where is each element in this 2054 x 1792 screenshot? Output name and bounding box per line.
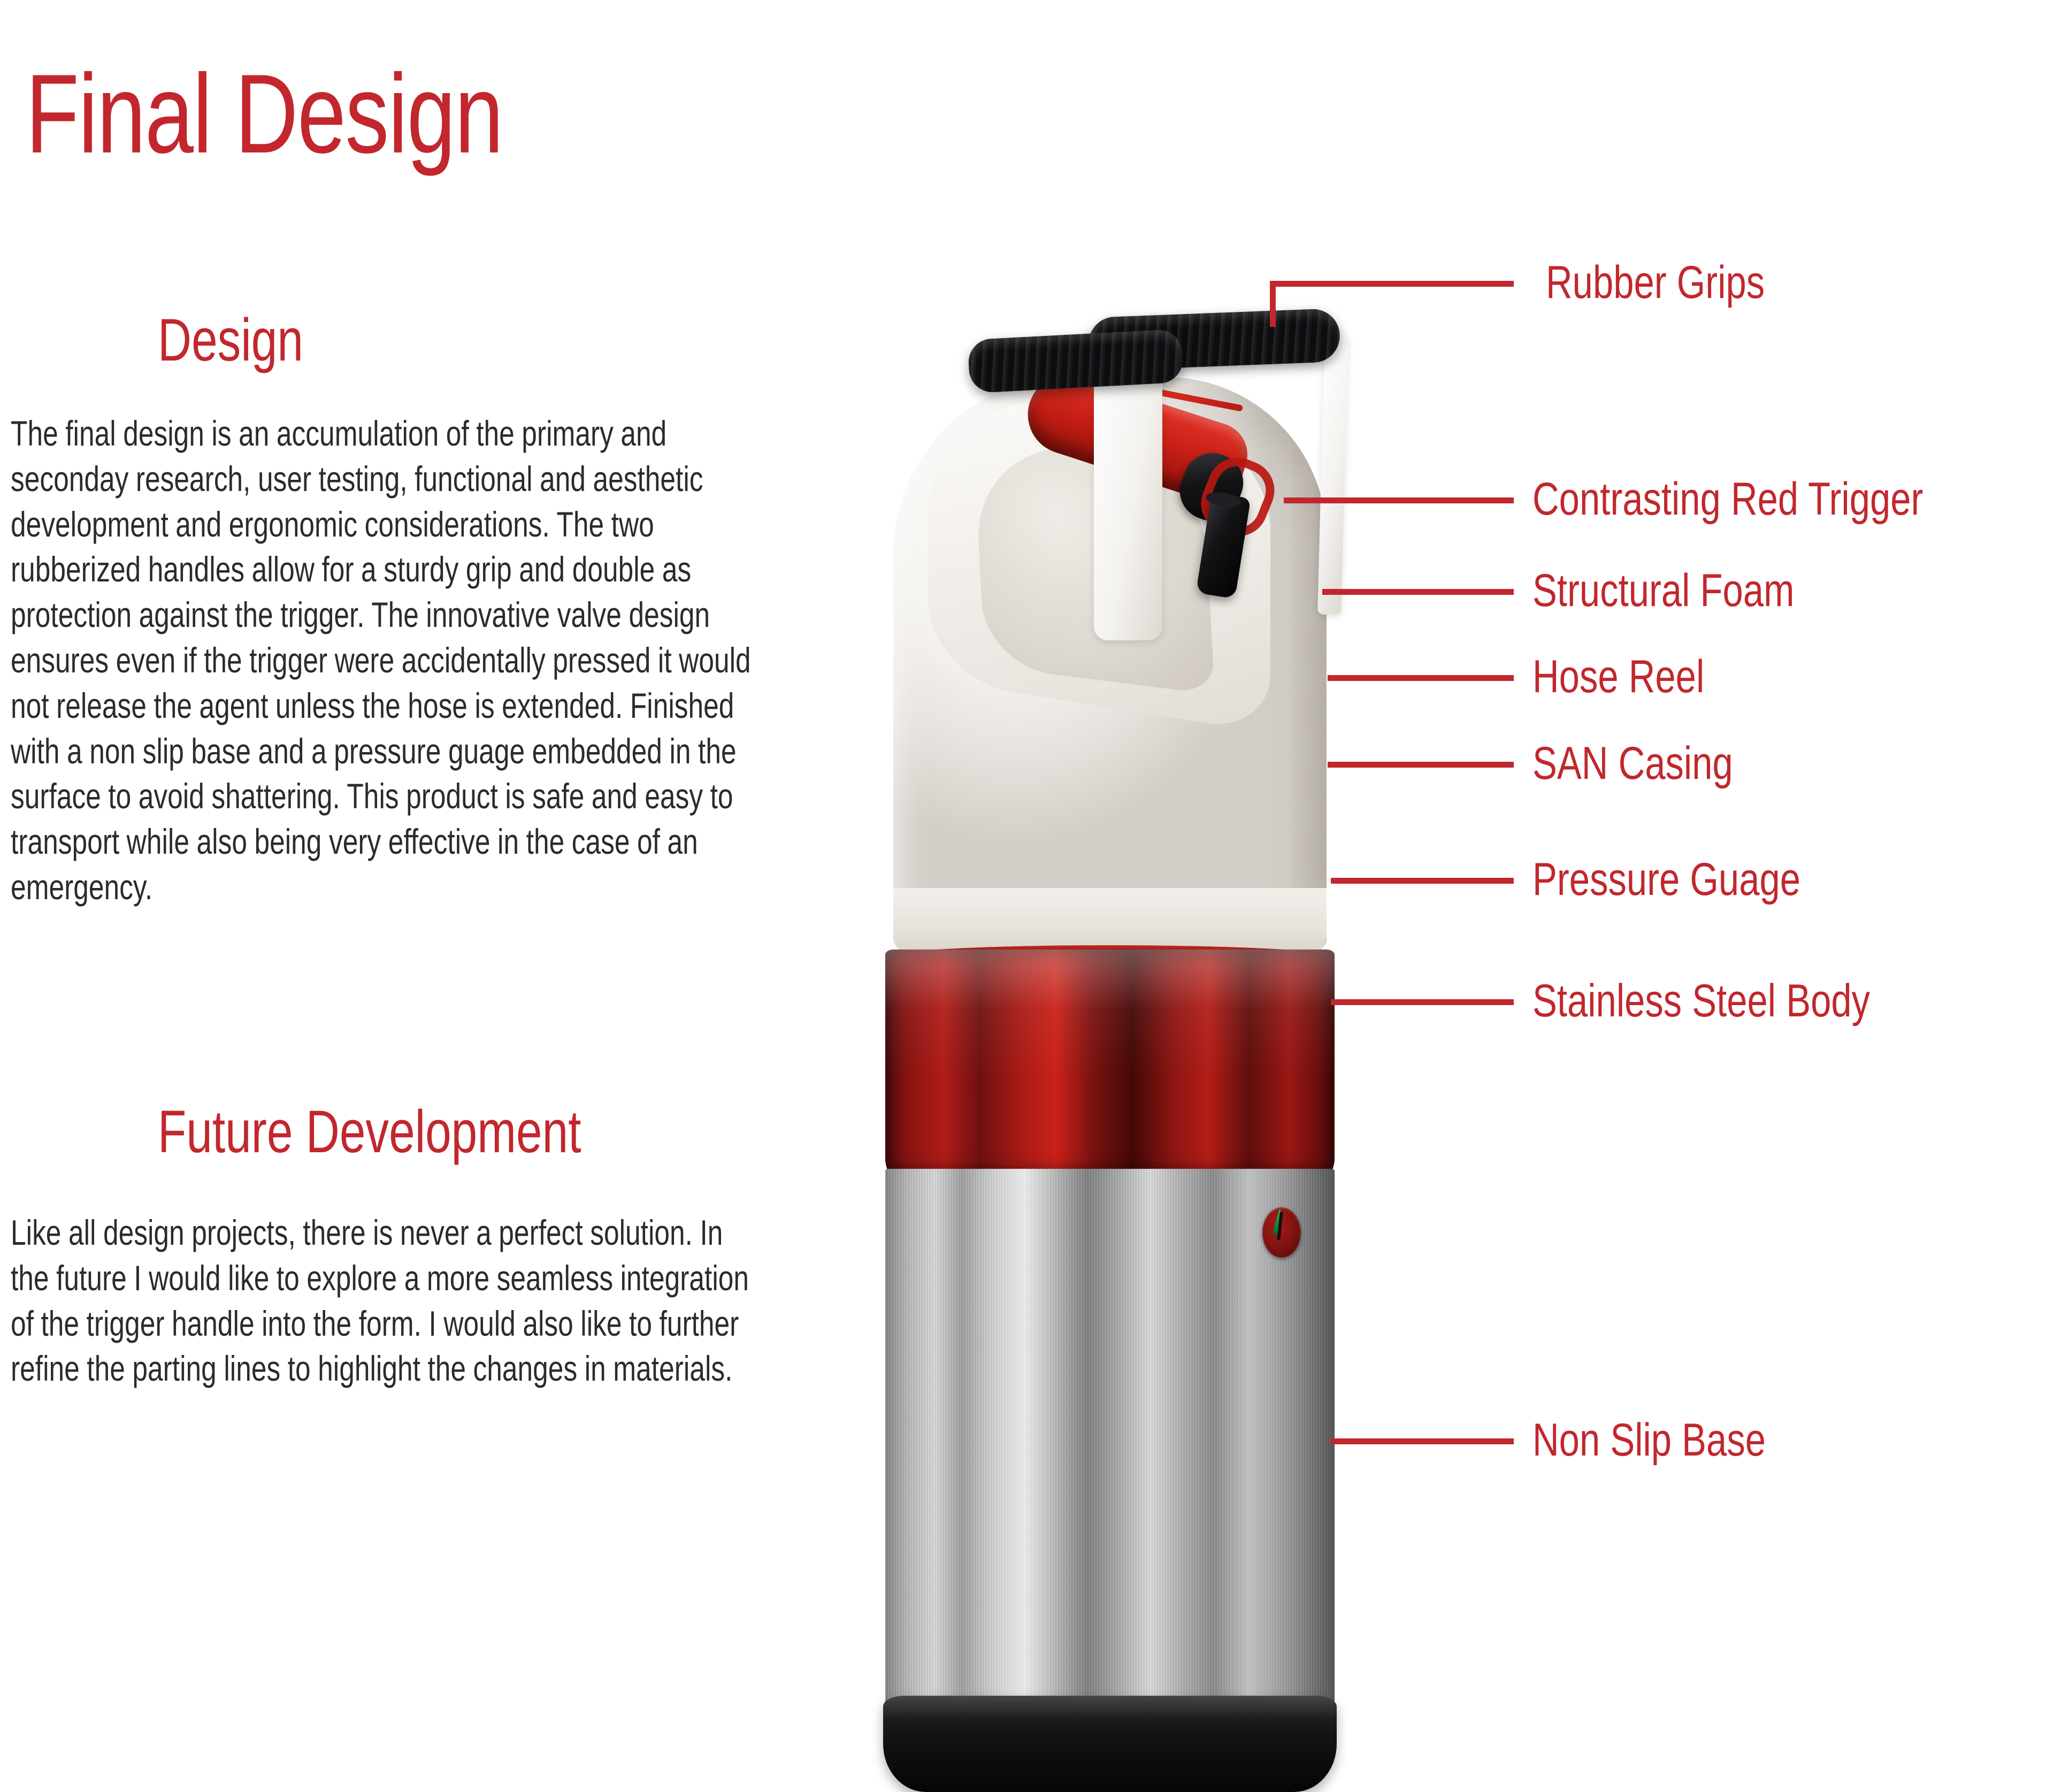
leader-line-hose-reel [1328, 675, 1514, 681]
handle-bow-rear [1317, 331, 1348, 615]
section-body-future-development: Like all design projects, there is never… [11, 1210, 757, 1391]
callout-label-non-slip-base: Non Slip Base [1532, 1417, 1766, 1463]
page-title: Final Design [26, 58, 503, 170]
section-heading-future-development: Future Development [158, 1102, 581, 1162]
non-slip-base-highlight [883, 1696, 1337, 1719]
leader-line-stainless-steel-body [1331, 999, 1514, 1005]
leader-line-contrasting-red-trigger [1284, 497, 1514, 503]
leader-line-rubber-grips [1270, 281, 1514, 287]
section-body-design: The final design is an accumulation of t… [11, 411, 757, 910]
section-heading-design: Design [158, 310, 303, 370]
leader-line-san-casing [1328, 762, 1514, 768]
leader-line-non-slip-base [1331, 1438, 1514, 1444]
product-photo [864, 313, 1356, 1543]
callout-label-pressure-guage: Pressure Guage [1532, 856, 1800, 902]
leader-line-rubber-grips-vertical [1270, 281, 1276, 327]
callout-label-stainless-steel-body: Stainless Steel Body [1532, 978, 1870, 1024]
callout-label-san-casing: SAN Casing [1532, 740, 1733, 786]
pressure-gauge [1262, 1207, 1301, 1258]
rubber-grip-front [968, 329, 1184, 394]
steel-brushed-texture [885, 1169, 1335, 1749]
callout-label-rubber-grips: Rubber Grips [1546, 259, 1765, 305]
callout-label-structural-foam: Structural Foam [1532, 568, 1794, 614]
callout-label-contrasting-red-trigger: Contrasting Red Trigger [1532, 476, 1923, 522]
leader-line-pressure-guage [1331, 878, 1514, 884]
san-casing-gloss [885, 949, 1335, 1180]
callout-label-hose-reel: Hose Reel [1532, 654, 1704, 700]
leader-line-structural-foam [1322, 589, 1514, 595]
